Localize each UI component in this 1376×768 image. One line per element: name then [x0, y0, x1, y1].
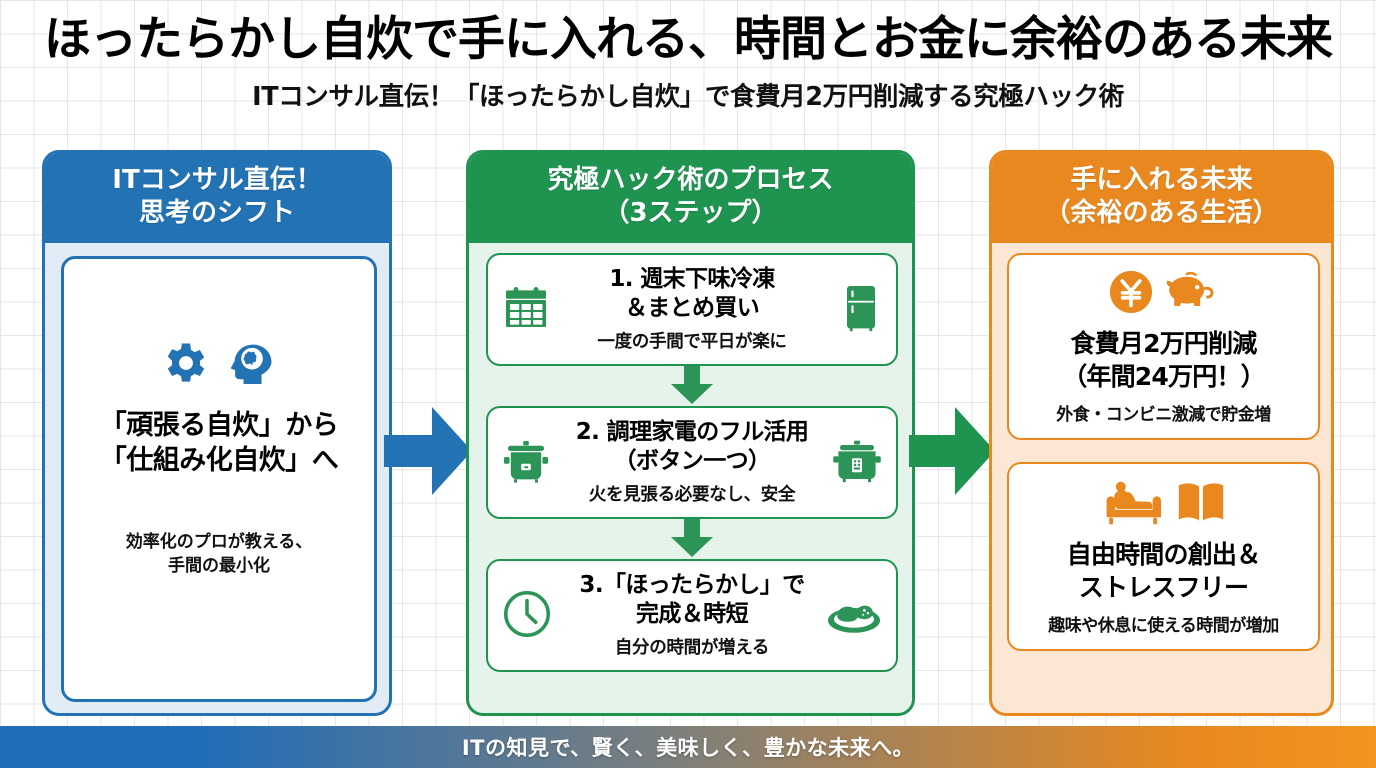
process-step-1: 1. 週末下味冷凍 ＆まとめ買い 一度の手間で平日が楽に: [486, 253, 898, 366]
process-step-1-text: 1. 週末下味冷凍 ＆まとめ買い 一度の手間で平日が楽に: [557, 265, 827, 353]
panel-process-steps-header-line2: （3ステップ）: [475, 197, 906, 230]
future-outcome-1-title-line2: （年間24万円！）: [1017, 361, 1310, 394]
panel-mindset-shift: ITコンサル直伝！ 思考のシフト 「頑張る自炊」から 「仕組み化自炊」へ: [42, 150, 392, 716]
process-step-2-title-line1: 2. 調理家電のフル活用: [557, 418, 827, 447]
panel-future-outcomes-header-line2: （余裕のある生活）: [998, 197, 1325, 230]
future-outcome-2: 自由時間の創出＆ ストレスフリー 趣味や休息に使える時間が増加: [1007, 462, 1320, 651]
mindset-subtext-line2: 手間の最小化: [126, 554, 313, 578]
future-outcome-1-icon-group: [1017, 269, 1310, 319]
process-step-3-sub: 自分の時間が増える: [557, 634, 827, 659]
process-step-1-title-line2: ＆まとめ買い: [557, 294, 827, 323]
calendar-icon: [502, 284, 550, 336]
footer-text: ITの知見で、賢く、美味しく、豊かな未来へ。: [462, 732, 914, 762]
panel-mindset-shift-header-line1: ITコンサル直伝！: [51, 164, 383, 197]
footer-banner: ITの知見で、賢く、美味しく、豊かな未来へ。: [0, 726, 1376, 768]
process-step-2-sub: 火を見張る必要なし、安全: [557, 481, 827, 506]
mindset-headline-line2: 「仕組み化自炊」へ: [100, 444, 339, 479]
future-outcome-2-title-line2: ストレスフリー: [1017, 572, 1310, 605]
mindset-icon-group: [160, 337, 278, 393]
green-right-arrow-icon: [909, 405, 995, 501]
future-outcome-1: 食費月2万円削減 （年間24万円！） 外食・コンビニ激減で貯金増: [1007, 253, 1320, 440]
process-connector-1: [486, 366, 898, 406]
panel-mindset-shift-header-line2: 思考のシフト: [51, 197, 383, 230]
process-step-3: 3.「ほったらかし」で 完成＆時短 自分の時間が増える: [486, 559, 898, 672]
process-step-3-title: 3.「ほったらかし」で 完成＆時短: [557, 571, 827, 628]
mindset-shift-card: 「頑張る自炊」から 「仕組み化自炊」へ 効率化のプロが教える、 手間の最小化: [61, 256, 377, 702]
process-step-1-sub: 一度の手間で平日が楽に: [557, 328, 827, 353]
panel-mindset-shift-header: ITコンサル直伝！ 思考のシフト: [45, 153, 389, 243]
page-subtitle: ITコンサル直伝！「ほったらかし自炊」で食費月2万円削減する究極ハック術: [0, 76, 1376, 113]
process-step-2-title: 2. 調理家電のフル活用 （ボタン一つ）: [557, 418, 827, 475]
panel-process-steps-header: 究極ハック術のプロセス （3ステップ）: [469, 153, 912, 243]
process-step-1-title-line1: 1. 週末下味冷凍: [557, 265, 827, 294]
future-outcome-1-title: 食費月2万円削減 （年間24万円！）: [1017, 328, 1310, 393]
process-step-list: 1. 週末下味冷凍 ＆まとめ買い 一度の手間で平日が楽に: [486, 253, 898, 672]
yen-coin-icon: [1108, 269, 1154, 319]
mindset-subtext: 効率化のプロが教える、 手間の最小化: [126, 530, 313, 578]
pressure-cooker-icon: [502, 439, 550, 487]
relax-sofa-icon: [1102, 478, 1164, 530]
piggy-bank-icon: [1166, 270, 1220, 318]
process-connector-2: [486, 519, 898, 559]
future-outcome-2-title-line1: 自由時間の創出＆: [1017, 539, 1310, 572]
panel-process-steps-header-line1: 究極ハック術のプロセス: [475, 164, 906, 197]
future-outcome-1-title-line1: 食費月2万円削減: [1017, 328, 1310, 361]
process-step-3-text: 3.「ほったらかし」で 完成＆時短 自分の時間が増える: [557, 571, 827, 659]
process-step-2-text: 2. 調理家電のフル活用 （ボタン一つ） 火を見張る必要なし、安全: [557, 418, 827, 506]
future-outcome-1-sub: 外食・コンビニ激減で貯金増: [1017, 400, 1310, 425]
future-outcome-list: 食費月2万円削減 （年間24万円！） 外食・コンビニ激減で貯金増: [1007, 253, 1320, 651]
open-book-icon: [1176, 479, 1226, 529]
page-title: ほったらかし自炊で手に入れる、時間とお金に余裕のある未来: [0, 14, 1376, 67]
gear-icon: [160, 337, 212, 393]
future-outcome-2-icon-group: [1017, 478, 1310, 530]
mindset-subtext-line1: 効率化のプロが教える、: [126, 530, 313, 554]
mindset-headline: 「頑張る自炊」から 「仕組み化自炊」へ: [100, 409, 339, 478]
rice-cooker-icon: [832, 439, 882, 487]
panel-future-outcomes-header-line1: 手に入れる未来: [998, 164, 1325, 197]
panel-future-outcomes: 手に入れる未来 （余裕のある生活）: [989, 150, 1334, 716]
refrigerator-icon: [840, 284, 882, 336]
process-step-3-title-line1: 3.「ほったらかし」で: [557, 571, 827, 600]
process-step-3-title-line2: 完成＆時短: [557, 600, 827, 629]
process-step-1-title: 1. 週末下味冷凍 ＆まとめ買い: [557, 265, 827, 322]
mindset-headline-line1: 「頑張る自炊」から: [100, 409, 339, 444]
clock-icon: [502, 589, 552, 643]
future-outcome-2-sub: 趣味や休息に使える時間が増加: [1017, 611, 1310, 636]
blue-right-arrow-icon: [384, 405, 472, 501]
process-step-2: 2. 調理家電のフル活用 （ボタン一つ） 火を見張る必要なし、安全: [486, 406, 898, 519]
panel-process-steps: 究極ハック術のプロセス （3ステップ）: [466, 150, 915, 716]
brain-head-icon: [226, 337, 278, 393]
page-title-block: ほったらかし自炊で手に入れる、時間とお金に余裕のある未来 ITコンサル直伝！「ほ…: [0, 14, 1376, 113]
process-step-2-title-line2: （ボタン一つ）: [557, 447, 827, 476]
food-plate-icon: [826, 594, 882, 638]
future-outcome-2-title: 自由時間の創出＆ ストレスフリー: [1017, 539, 1310, 604]
panel-future-outcomes-header: 手に入れる未来 （余裕のある生活）: [992, 153, 1331, 243]
